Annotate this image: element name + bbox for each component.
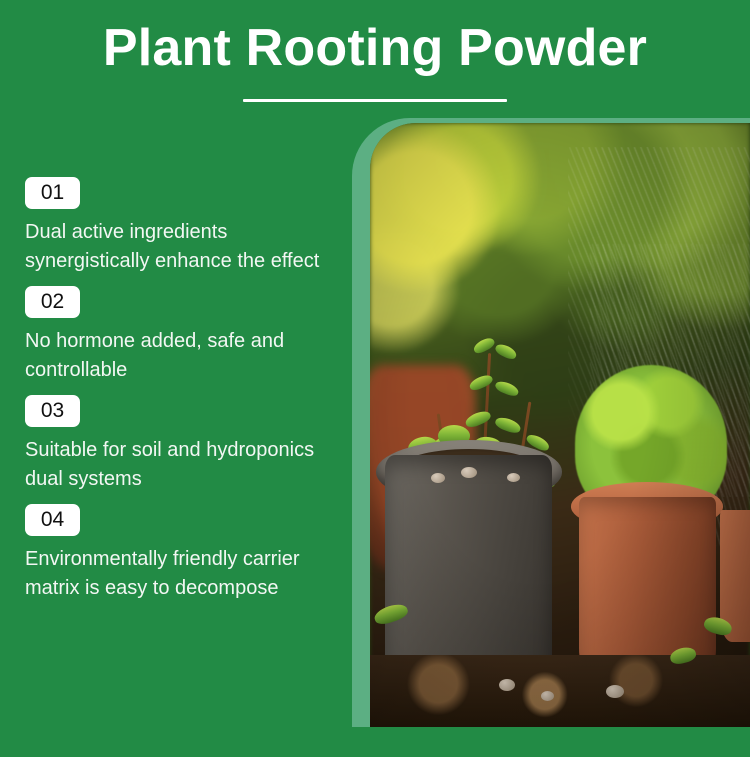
page-title: Plant Rooting Powder <box>0 22 750 74</box>
title-underline-divider <box>243 99 507 102</box>
feature-number-badge: 02 <box>25 286 80 318</box>
feature-description: No hormone added, safe and controllable <box>25 327 320 385</box>
feature-item: 01 Dual active ingredients synergistical… <box>25 177 325 276</box>
feature-list: 01 Dual active ingredients synergistical… <box>25 177 325 603</box>
feature-item: 02 No hormone added, safe and controllab… <box>25 286 325 385</box>
feature-item: 04 Environmentally friendly carrier matr… <box>25 504 325 603</box>
product-poster: Plant Rooting Powder 01 Dual active ingr… <box>0 0 750 757</box>
feature-description: Environmentally friendly carrier matrix … <box>25 545 320 603</box>
feature-description: Suitable for soil and hydroponics dual s… <box>25 436 320 494</box>
title-block: Plant Rooting Powder <box>0 22 750 74</box>
feature-number-badge: 01 <box>25 177 80 209</box>
feature-item: 03 Suitable for soil and hydroponics dua… <box>25 395 325 494</box>
feature-number-badge: 03 <box>25 395 80 427</box>
photo-vignette <box>370 123 750 727</box>
feature-description: Dual active ingredients synergistically … <box>25 218 320 276</box>
product-photo <box>370 123 750 727</box>
feature-number-badge: 04 <box>25 504 80 536</box>
